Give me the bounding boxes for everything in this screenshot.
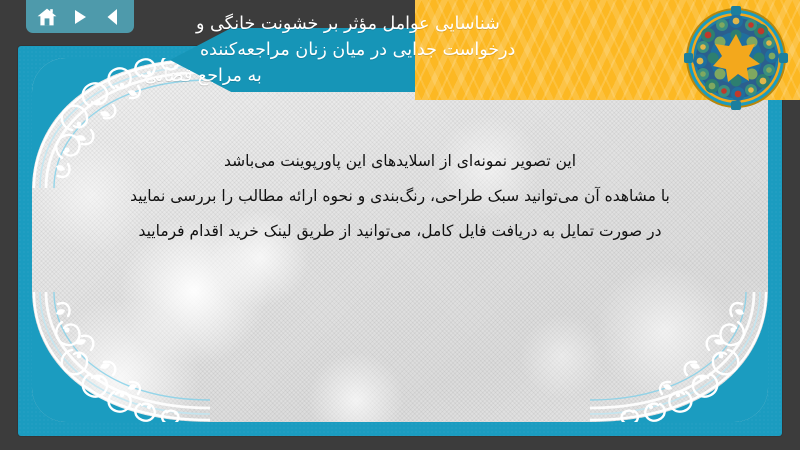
body-line-1: این تصویر نمونه‌ای از اسلایدهای این پاور… [72, 144, 728, 179]
triangle-right-icon [70, 7, 90, 27]
slide-navigation-bar [26, 0, 134, 33]
presentation-viewer: شناسایی عوامل مؤثر بر خشونت خانگی و درخو… [0, 0, 800, 450]
triangle-left-icon [103, 7, 123, 27]
banner-ribbon-tail [170, 28, 425, 92]
body-line-3: در صورت تمایل به دریافت فایل کامل، می‌تو… [72, 214, 728, 249]
arabesque-corner-flourish-bottom-left [32, 290, 210, 422]
arabesque-corner-flourish-bottom-right [590, 290, 768, 422]
body-line-2: با مشاهده آن می‌توانید سبک طراحی، رنگ‌بن… [72, 179, 728, 214]
slide-content-area: این تصویر نمونه‌ای از اسلایدهای این پاور… [32, 58, 768, 422]
home-icon [36, 7, 58, 27]
mandala-medallion-icon [684, 6, 788, 110]
slide-body-text: این تصویر نمونه‌ای از اسلایدهای این پاور… [32, 144, 768, 249]
previous-slide-button[interactable] [100, 5, 126, 29]
home-button[interactable] [34, 5, 60, 29]
next-slide-button[interactable] [67, 5, 93, 29]
